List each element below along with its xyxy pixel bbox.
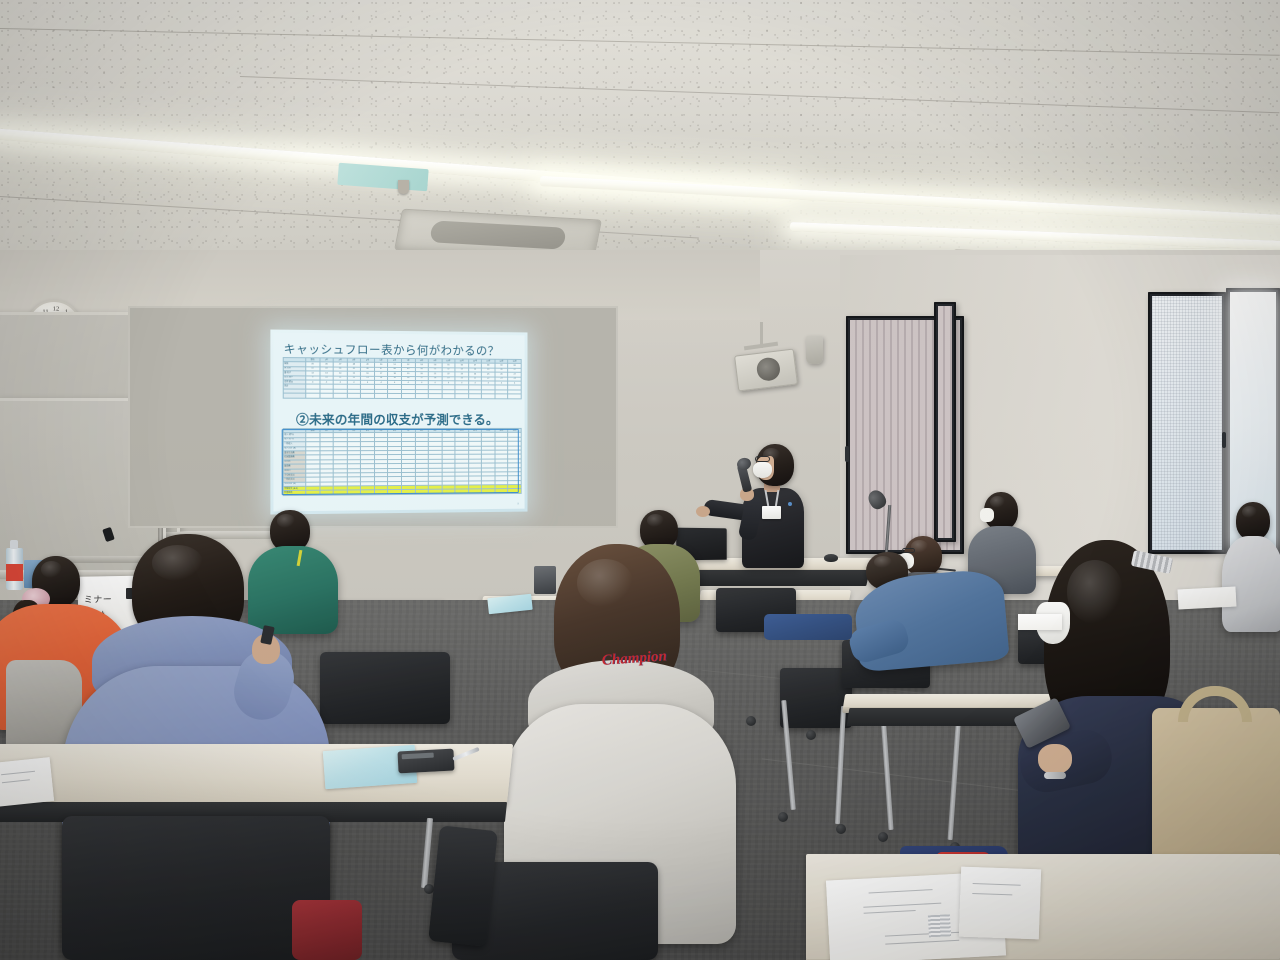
desk-calculator[interactable] — [397, 749, 454, 774]
window-blinds[interactable] — [938, 306, 952, 538]
handout-sheet[interactable] — [959, 867, 1041, 940]
champion-logo-text: Champion — [601, 648, 667, 668]
window-handle[interactable] — [1222, 432, 1226, 448]
slide-callout-text: ②未来の年間の収支が予測できる。 — [296, 409, 498, 428]
lapel-pin — [788, 502, 792, 506]
handout-sheet[interactable] — [1178, 586, 1237, 609]
table-caster — [878, 832, 888, 842]
tote-bag[interactable] — [1152, 708, 1280, 868]
tablet-device[interactable] — [534, 566, 556, 594]
projected-slide: キャッシュフロー表から何がわかるの？ 現在1年2年3年4年5年6年7年8年9年1… — [270, 330, 527, 515]
projector-lens — [755, 357, 781, 382]
wrist-bracelet — [1044, 772, 1066, 779]
chair-caster — [778, 812, 788, 822]
wall-speaker — [806, 336, 823, 364]
window-handle[interactable] — [845, 446, 849, 462]
handout-sheet[interactable] — [1018, 614, 1062, 630]
handout-sheet[interactable] — [0, 757, 54, 807]
chair[interactable] — [320, 652, 450, 724]
slide-table-bottom: 現在1年2年3年4年5年6年7年8年9年10年11年12年13年14年15年収入… — [283, 428, 522, 496]
chair-caster — [806, 730, 816, 740]
chair[interactable] — [62, 816, 330, 960]
folded-garment — [764, 614, 852, 640]
ceiling-projector — [734, 348, 798, 391]
attendee-head — [1236, 502, 1270, 540]
slide-title: キャッシュフロー表から何がわかるの？ — [284, 341, 500, 359]
attendee-face-mask — [980, 508, 994, 522]
presenter-name-badge — [762, 506, 781, 519]
sprinkler-head — [398, 180, 409, 194]
chair[interactable] — [428, 825, 498, 946]
chair-caster — [836, 824, 846, 834]
seminar-room-photo: 121234567891011 キャッシュフロー表から何がわかるの？ 現在1年2… — [0, 0, 1280, 960]
window-right-mesh — [1148, 292, 1226, 554]
presenter-glasses — [755, 456, 770, 462]
handout-qr-block — [928, 914, 951, 937]
attendee-hand — [1038, 744, 1072, 774]
presenter-face-mask — [753, 462, 772, 478]
window-mesh-glass — [1152, 296, 1222, 550]
attendee-denim-leaning — [856, 538, 1016, 668]
bag-under-chair — [292, 900, 362, 960]
attendee-torso — [1222, 536, 1280, 632]
window-left-sliver — [934, 302, 956, 542]
slide-table-top: 現在1年2年3年4年5年6年7年8年9年10年11年12年13年14年15年家族… — [283, 357, 522, 399]
attendee-far-right — [1222, 500, 1280, 650]
slide-page-number: 7 — [517, 502, 519, 506]
